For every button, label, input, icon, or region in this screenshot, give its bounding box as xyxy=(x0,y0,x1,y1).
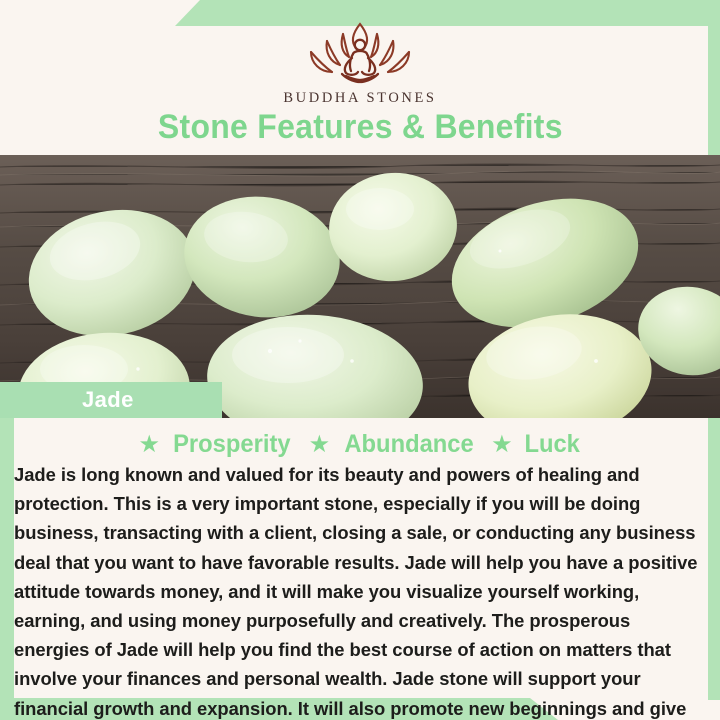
page-title-text: Stone Features & Benefits xyxy=(158,108,563,147)
brand-name: BUDDHA STONES xyxy=(0,90,720,107)
jade-stones-photo xyxy=(0,155,720,418)
description-text: Jade is long known and valued for its be… xyxy=(14,460,699,720)
stone-name-banner: Jade xyxy=(0,382,222,418)
star-icon: ★ xyxy=(139,433,161,457)
brand-logo: BUDDHA STONES xyxy=(0,18,720,107)
keyword-row: ★ Prosperity ★ Abundance ★ Luck xyxy=(0,430,720,459)
lotus-meditation-icon xyxy=(296,18,424,88)
stone-info-poster: BUDDHA STONES Stone Features & Benefits xyxy=(0,0,720,720)
star-icon: ★ xyxy=(309,433,331,457)
description-panel: Jade is long known and valued for its be… xyxy=(14,460,706,720)
keyword-luck: Luck xyxy=(525,430,580,459)
jade-stones-illustration xyxy=(0,155,720,418)
star-icon: ★ xyxy=(491,433,513,457)
keyword-prosperity: Prosperity xyxy=(174,430,291,459)
page-title: Stone Features & Benefits xyxy=(0,108,720,147)
left-green-band xyxy=(0,418,14,702)
stone-name-text: Jade xyxy=(82,387,134,413)
keyword-abundance: Abundance xyxy=(344,430,473,459)
